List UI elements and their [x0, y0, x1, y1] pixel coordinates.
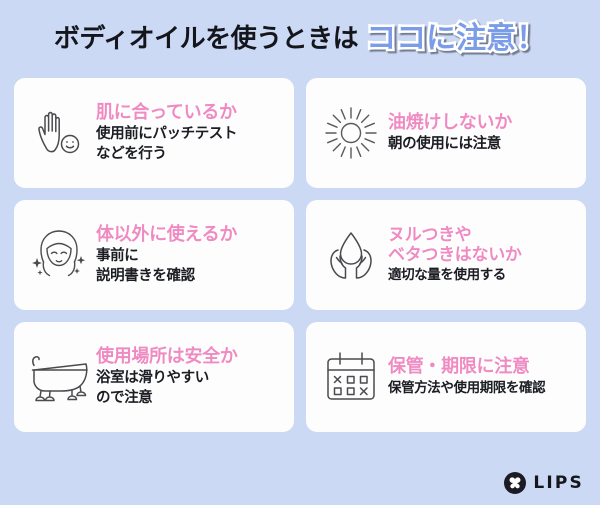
bathtub-icon	[22, 340, 96, 414]
tip-card-text: 体以外に使えるか 事前に 説明書きを確認	[96, 224, 284, 285]
tip-card-text: ヌルつきや ベタつきはないか 適切な量を使用する	[388, 225, 576, 285]
tip-card-heading: ヌルつきや ベタつきはないか	[388, 225, 576, 265]
tip-card-heading: 油焼けしないか	[388, 112, 576, 133]
tip-card-body: 浴室は滑りやすい ので注意	[96, 369, 284, 407]
tip-card-text: 油焼けしないか 朝の使用には注意	[388, 112, 576, 154]
tip-card-body: 事前に 説明書きを確認	[96, 247, 284, 285]
tip-card-body: 朝の使用には注意	[388, 135, 576, 154]
calendar-icon	[314, 340, 388, 414]
tip-card-text: 肌に合っているか 使用前にパッチテスト などを行う	[96, 102, 284, 163]
hand-smiley-icon	[22, 96, 96, 170]
tip-card-storage-expiry: 保管・期限に注意 保管方法や使用期限を確認	[306, 322, 586, 432]
face-sparkle-icon	[22, 218, 96, 292]
tip-card-heading: 体以外に使えるか	[96, 224, 284, 245]
tip-card-body: 適切な量を使用する	[388, 267, 576, 285]
hands-droplet-icon	[314, 218, 388, 292]
tip-card-body: 保管方法や使用期限を確認	[388, 380, 576, 398]
tip-card-text: 保管・期限に注意 保管方法や使用期限を確認	[388, 356, 576, 397]
lips-wordmark: LIPS	[533, 475, 584, 492]
tip-card-heading: 肌に合っているか	[96, 102, 284, 123]
page-title-plain: ボディオイルを使うときは	[54, 26, 358, 52]
tips-grid: 肌に合っているか 使用前にパッチテスト などを行う	[0, 78, 600, 432]
sun-icon	[314, 96, 388, 170]
tip-card-non-body-use: 体以外に使えるか 事前に 説明書きを確認	[14, 200, 294, 310]
tip-card-safe-place: 使用場所は安全か 浴室は滑りやすい ので注意	[14, 322, 294, 432]
page-header: ボディオイルを使うときは ココに注意！	[0, 0, 600, 78]
tip-card-text: 使用場所は安全か 浴室は滑りやすい ので注意	[96, 346, 284, 407]
brand-logo: LIPS	[504, 472, 584, 494]
tip-card-skin-compatibility: 肌に合っているか 使用前にパッチテスト などを行う	[14, 78, 294, 188]
page-title-accent: ココに注意！	[366, 24, 546, 54]
lips-mark-icon	[504, 472, 526, 494]
tip-card-greasiness: ヌルつきや ベタつきはないか 適切な量を使用する	[306, 200, 586, 310]
tip-card-body: 使用前にパッチテスト などを行う	[96, 125, 284, 163]
tip-card-heading: 使用場所は安全か	[96, 346, 284, 367]
tip-card-oil-burn: 油焼けしないか 朝の使用には注意	[306, 78, 586, 188]
tip-card-heading: 保管・期限に注意	[388, 356, 576, 377]
